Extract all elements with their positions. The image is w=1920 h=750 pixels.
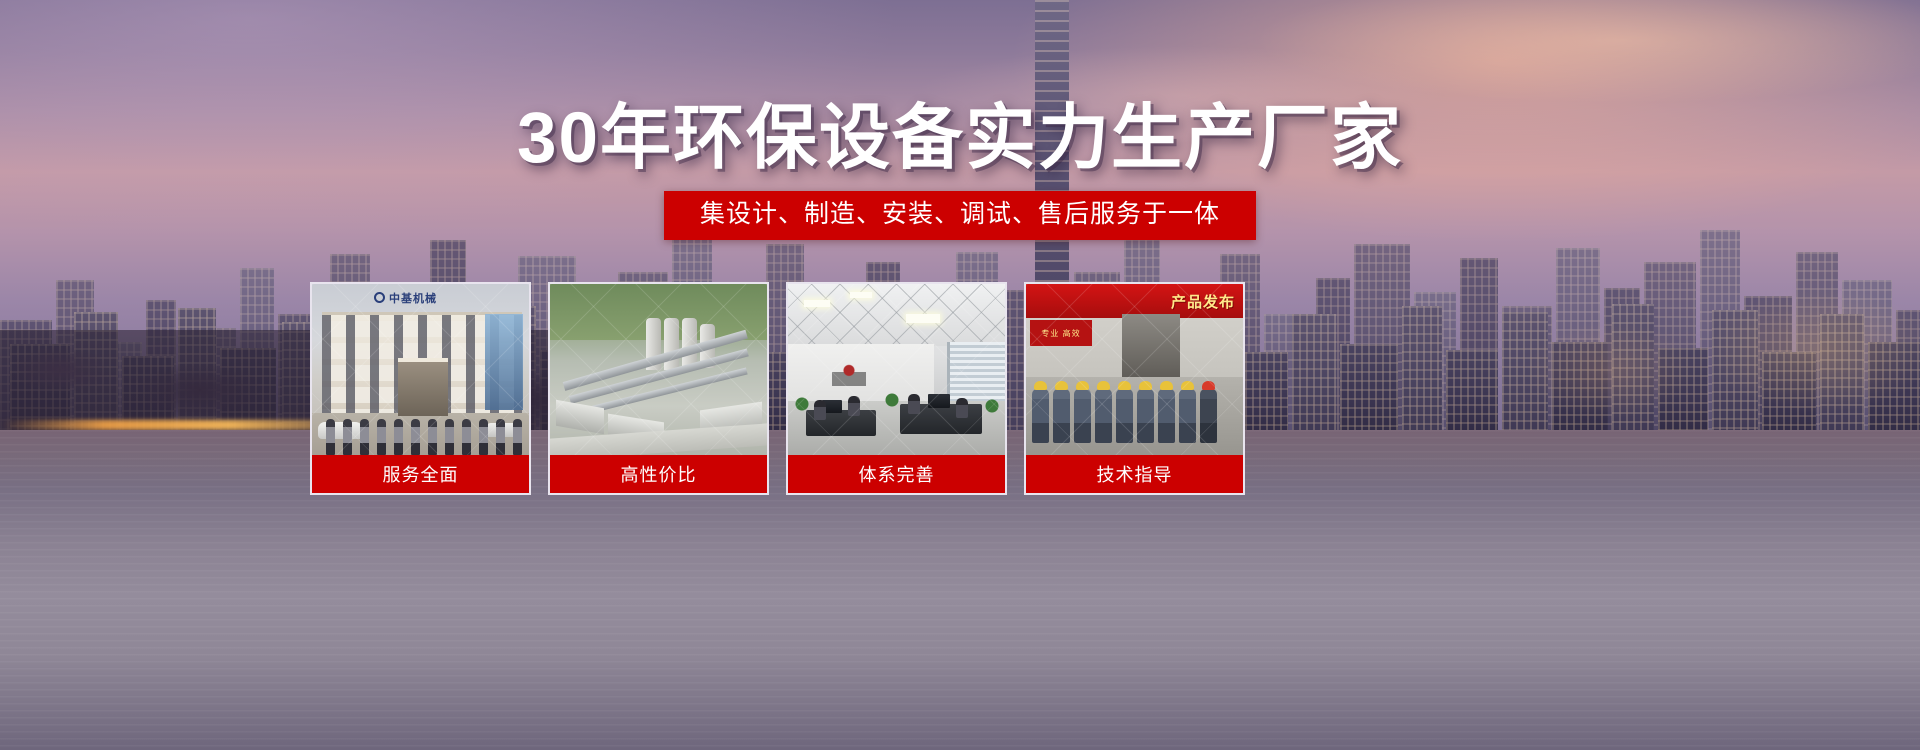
office-interior-photo <box>788 284 1005 459</box>
feature-card-label: 体系完善 <box>788 455 1005 493</box>
building-sign-text: 中基机械 <box>389 290 437 306</box>
subtitle-banner: 集设计、制造、安装、调试、售后服务于一体 <box>664 191 1256 240</box>
feature-card-row: 中基机械 服务全面 <box>310 282 1558 495</box>
aerial-plant-photo <box>550 284 767 459</box>
feature-card-label: 技术指导 <box>1026 455 1243 493</box>
feature-card[interactable]: 体系完善 <box>786 282 1007 495</box>
company-logo-icon <box>374 292 385 303</box>
feature-card[interactable]: 中基机械 服务全面 <box>310 282 531 495</box>
feature-card[interactable]: 产品发布 专业 高效 <box>1024 282 1245 495</box>
company-headquarters-photo: 中基机械 <box>312 284 529 459</box>
building-sign: 中基机械 <box>374 290 470 305</box>
subtitle-banner-wrap: 集设计、制造、安装、调试、售后服务于一体 <box>0 191 1920 240</box>
feature-card[interactable]: 高性价比 <box>548 282 769 495</box>
page-title: 30年环保设备实力生产厂家 <box>0 103 1920 174</box>
hero-banner: 30年环保设备实力生产厂家 集设计、制造、安装、调试、售后服务于一体 中基机械 <box>0 0 1920 750</box>
workshop-team-photo: 产品发布 专业 高效 <box>1026 284 1243 459</box>
feature-card-label: 服务全面 <box>312 455 529 493</box>
workshop-side-text: 专业 高效 <box>1030 320 1092 346</box>
workshop-banner-text: 产品发布 <box>1026 284 1243 318</box>
wall-logo-icon <box>832 360 866 386</box>
feature-card-label: 高性价比 <box>550 455 767 493</box>
